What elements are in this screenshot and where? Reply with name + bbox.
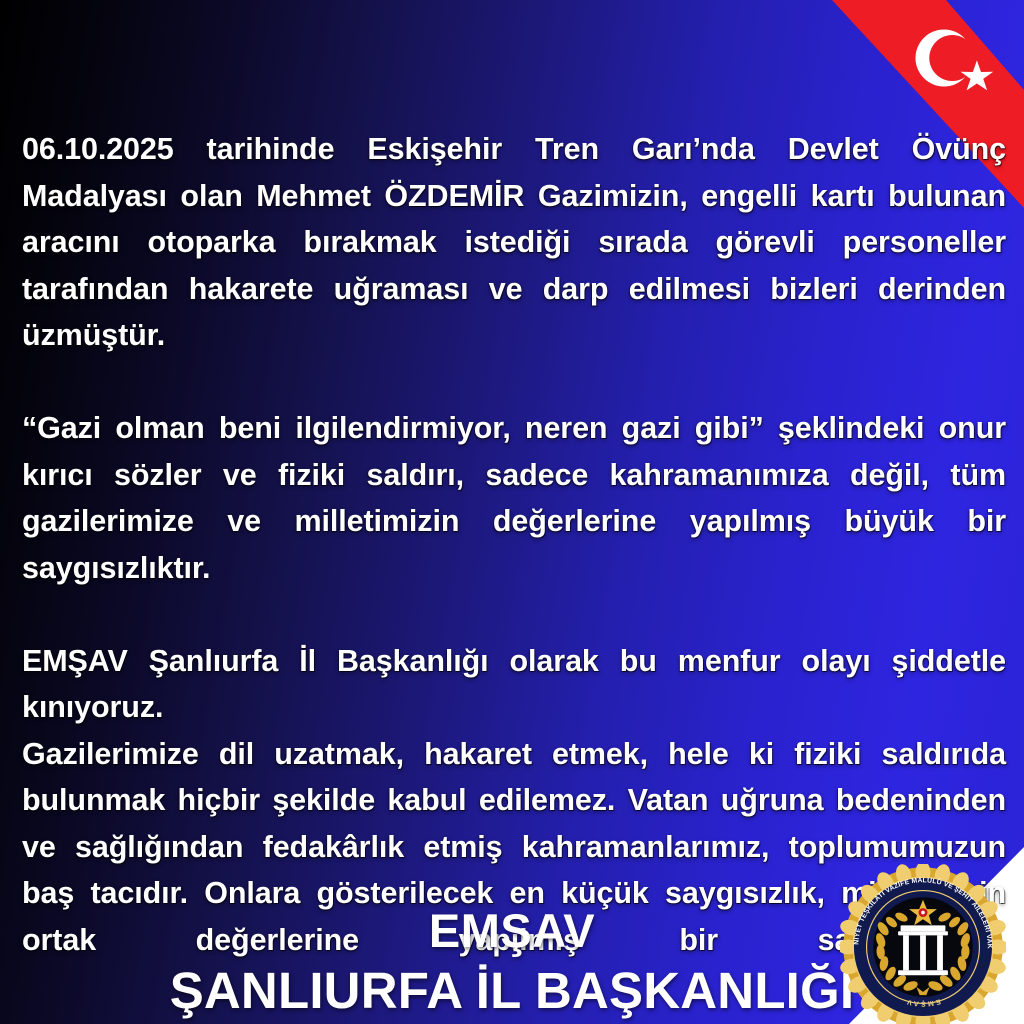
- emsav-emblem-icon: EMNİYET TEŞKİLATI VAZİFE MALULÜ VE ŞEHİT…: [840, 864, 1006, 1024]
- poster-canvas: 06.10.2025 tarihinde Eskişehir Tren Garı…: [0, 0, 1024, 1024]
- emblem-monument: [898, 925, 948, 975]
- crescent-star-icon: [915, 29, 993, 90]
- statement-paragraph-1: 06.10.2025 tarihinde Eskişehir Tren Garı…: [22, 126, 1006, 405]
- statement-paragraph-3: EMŞAV Şanlıurfa İl Başkanlığı olarak bu …: [22, 638, 1006, 731]
- statement-paragraph-2: “Gazi olman beni ilgilendirmiyor, neren …: [22, 405, 1006, 638]
